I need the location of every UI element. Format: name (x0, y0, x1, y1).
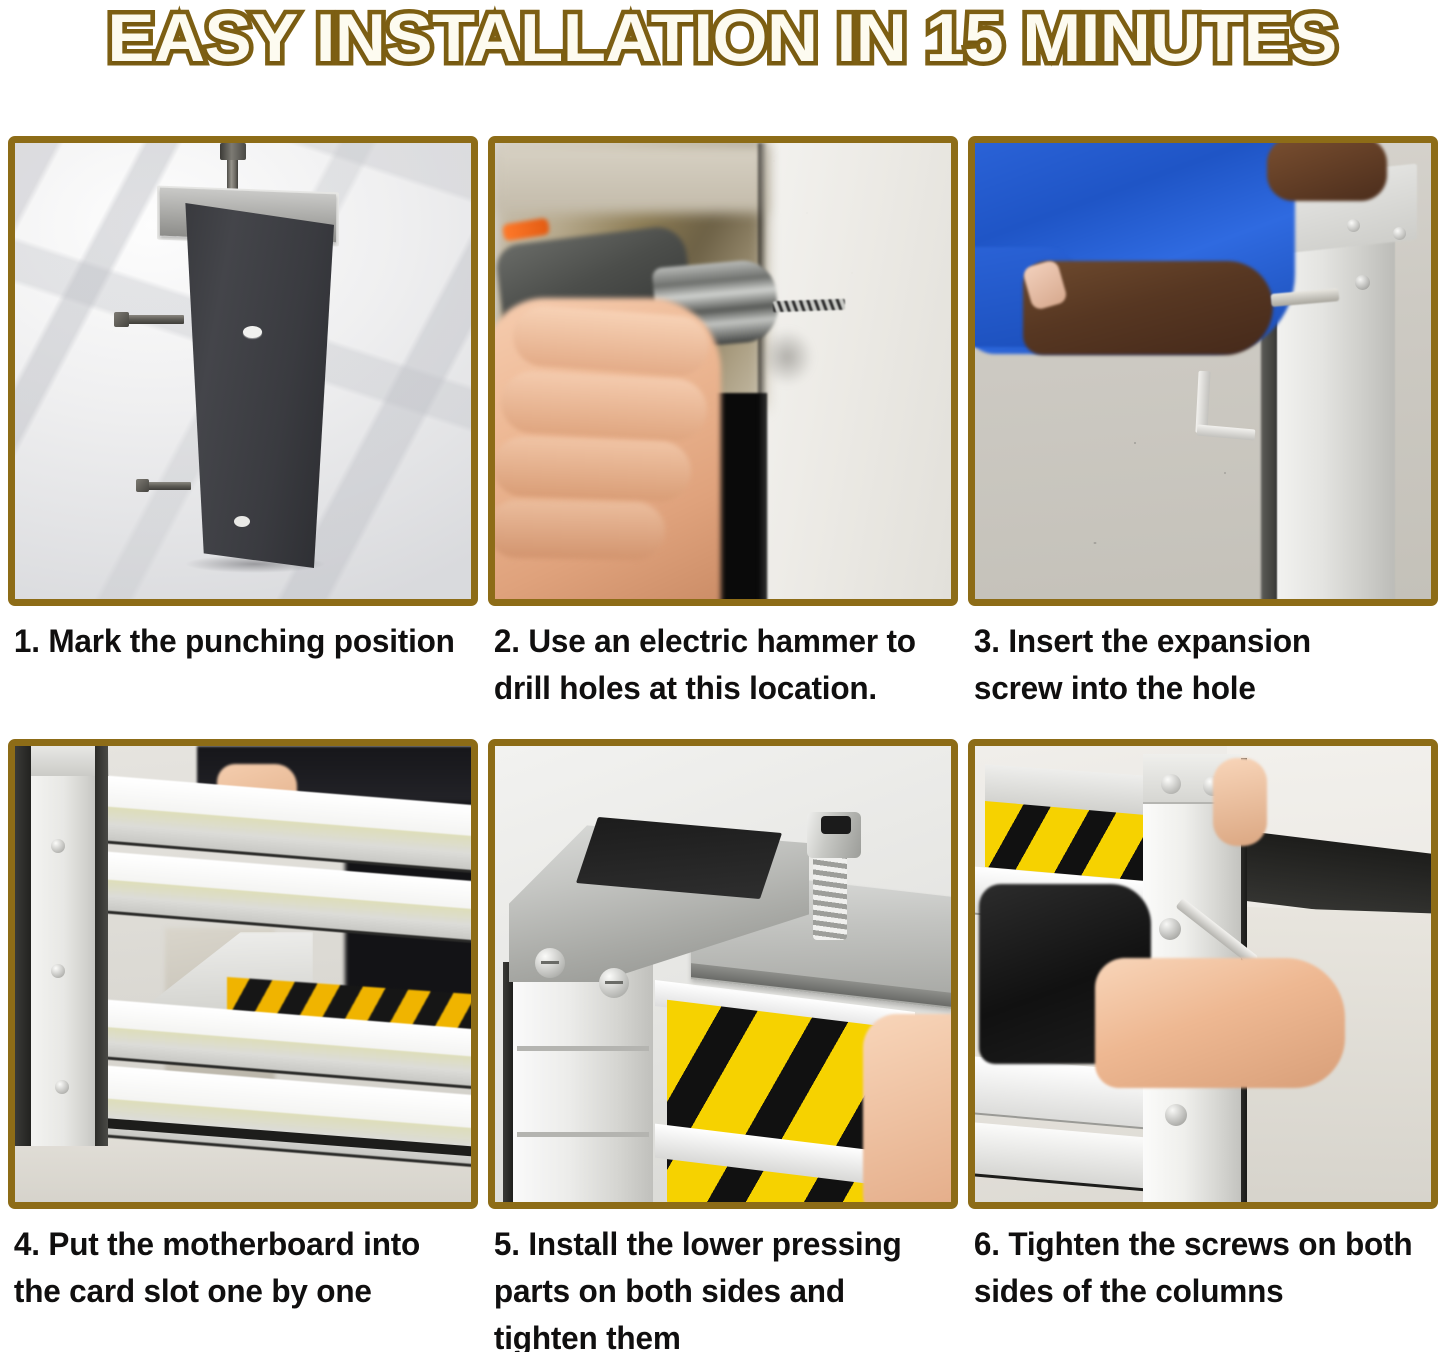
side-screw-lower (1165, 1104, 1187, 1126)
finger-2 (500, 370, 709, 443)
side-screw-middle (1159, 918, 1181, 940)
step-1-image (15, 143, 471, 599)
white-column-body (513, 956, 653, 1202)
step-4-photo-frame (8, 739, 478, 1209)
step-4-caption: 4. Put the motherboard into the card slo… (8, 1209, 471, 1315)
bracket-screw-2 (599, 968, 629, 998)
step-4-image (15, 746, 471, 1202)
drill-dust (761, 329, 813, 385)
hex-bolt-socket (821, 816, 851, 834)
hex-bolt-thread (813, 848, 847, 940)
column-screw-1 (51, 839, 65, 853)
step-3-photo-frame (968, 136, 1438, 606)
step-2-image (495, 143, 951, 599)
column-card-slot (95, 746, 108, 1146)
page-title: EASY INSTALLATION IN 15 MINUTES (108, 2, 1337, 74)
step-6-caption-cell: 6. Tighten the screws on both sides of t… (968, 1209, 1438, 1346)
step-5-caption: 5. Install the lower pressing parts on b… (488, 1209, 951, 1352)
cap-screw-1 (1161, 774, 1181, 794)
step-6-image (975, 746, 1431, 1202)
column-screw-c (1355, 275, 1370, 290)
stud-lower-head (136, 479, 149, 492)
column-screw-b (1393, 227, 1406, 240)
column-screw-a (1347, 219, 1360, 232)
stud-upper-head (114, 312, 129, 327)
step-3-image (975, 143, 1431, 599)
step-2-photo-cell (488, 136, 958, 606)
column-slot-line-1 (517, 1046, 649, 1051)
step-5-photo-cell (488, 739, 958, 1209)
step-3-caption: 3. Insert the expansion screw into the h… (968, 606, 1431, 712)
step-1-photo-frame (8, 136, 478, 606)
step-4-caption-cell: 4. Put the motherboard into the card slo… (8, 1209, 478, 1346)
step-1-photo-cell (8, 136, 478, 606)
bracket-screw-1 (535, 948, 565, 978)
template-hole-lower (234, 516, 250, 527)
top-bolt-head (220, 143, 246, 160)
step-2-caption-cell: 2. Use an electric hammer to drill holes… (488, 606, 958, 739)
supporting-thumb (1213, 758, 1267, 846)
step-5-caption-cell: 5. Install the lower pressing parts on b… (488, 1209, 958, 1346)
step-4-photo-cell (8, 739, 478, 1209)
steps-grid: 1. Mark the punching position 2. Use an … (8, 136, 1437, 1346)
step-3-photo-cell (968, 136, 1438, 606)
tightening-hand (1095, 958, 1345, 1088)
blurred-background-top (495, 143, 767, 213)
step-1-caption-cell: 1. Mark the punching position (8, 606, 478, 739)
worker-upper-hand (1267, 143, 1387, 201)
holding-fingers (863, 1014, 951, 1202)
column-screw-3 (55, 1080, 69, 1094)
step-5-image (495, 746, 951, 1202)
step-2-photo-frame (488, 136, 958, 606)
installation-infographic: EASY INSTALLATION IN 15 MINUTES (0, 0, 1445, 1352)
step-6-photo-cell (968, 739, 1438, 1209)
step-1-caption: 1. Mark the punching position (8, 606, 471, 665)
step-5-photo-frame (488, 739, 958, 1209)
finger-4 (495, 499, 665, 560)
template-hole-upper (243, 326, 262, 338)
column-slot-line-2 (517, 1132, 649, 1137)
step-6-photo-frame (968, 739, 1438, 1209)
column-screw-2 (51, 964, 65, 978)
step-2-caption: 2. Use an electric hammer to drill holes… (488, 606, 951, 712)
step-6-caption: 6. Tighten the screws on both sides of t… (968, 1209, 1431, 1315)
step-3-caption-cell: 3. Insert the expansion screw into the h… (968, 606, 1438, 739)
finger-3 (495, 436, 692, 503)
title-banner: EASY INSTALLATION IN 15 MINUTES (0, 0, 1445, 118)
